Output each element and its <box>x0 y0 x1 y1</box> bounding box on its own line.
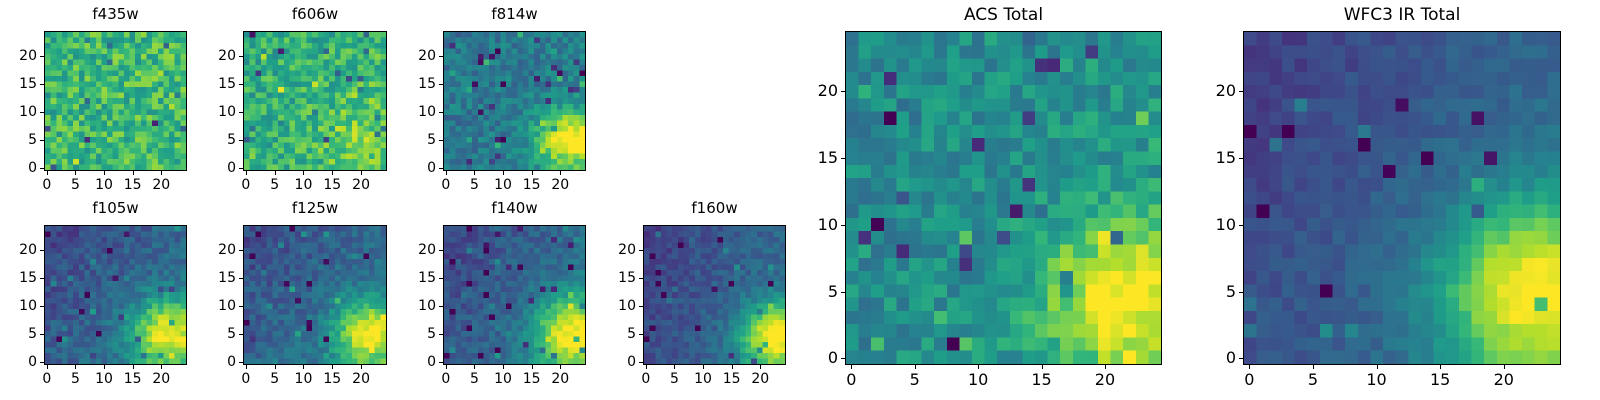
xtick-mark <box>474 171 475 175</box>
xtick-mark <box>303 365 304 369</box>
ytick-label: 15 <box>185 77 236 91</box>
heatmap-image-wfc3-ir-total <box>1244 32 1560 364</box>
ytick-label: 5 <box>787 284 838 300</box>
ytick-label: 10 <box>385 105 436 119</box>
ytick-mark <box>40 56 44 57</box>
ytick-mark <box>439 112 443 113</box>
ytick-label: 5 <box>1185 284 1236 300</box>
xtick-mark <box>1440 365 1441 369</box>
xtick-label: 15 <box>124 372 142 386</box>
xtick-label: 10 <box>494 178 512 192</box>
heatmap-axes-f606w[interactable] <box>243 31 387 171</box>
ytick-label: 10 <box>0 299 37 313</box>
xtick-label: 10 <box>295 372 313 386</box>
ytick-mark <box>841 225 845 226</box>
ytick-mark <box>841 91 845 92</box>
ytick-mark <box>1239 292 1243 293</box>
xtick-mark <box>851 365 852 369</box>
xtick-mark <box>246 171 247 175</box>
ytick-mark <box>639 334 643 335</box>
ytick-mark <box>1239 91 1243 92</box>
ytick-mark <box>239 306 243 307</box>
xtick-mark <box>446 365 447 369</box>
heatmap-image-f105w <box>45 226 186 364</box>
ytick-mark <box>40 250 44 251</box>
panel-wfc3-ir-total: WFC3 IR Total0510152005101520 <box>1183 5 1600 399</box>
heatmap-axes-wfc3-ir-total[interactable] <box>1243 31 1561 365</box>
xtick-label: 5 <box>270 178 279 192</box>
ytick-label: 20 <box>185 243 236 257</box>
ytick-label: 10 <box>385 299 436 313</box>
ytick-mark <box>841 358 845 359</box>
xtick-mark <box>133 365 134 369</box>
xtick-label: 5 <box>470 372 479 386</box>
xtick-label: 10 <box>694 372 712 386</box>
ytick-mark <box>1239 158 1243 159</box>
ytick-label: 5 <box>185 327 236 341</box>
ytick-mark <box>40 334 44 335</box>
ytick-mark <box>239 278 243 279</box>
xtick-mark <box>474 365 475 369</box>
ytick-mark <box>239 112 243 113</box>
xtick-mark <box>1042 365 1043 369</box>
xtick-mark <box>978 365 979 369</box>
ytick-label: 15 <box>385 271 436 285</box>
xtick-label: 0 <box>1244 372 1254 388</box>
xtick-mark <box>275 365 276 369</box>
ytick-mark <box>639 278 643 279</box>
heatmap-image-f435w <box>45 32 186 170</box>
panel-title-f814w: f814w <box>383 7 646 22</box>
xtick-mark <box>703 365 704 369</box>
heatmap-axes-f435w[interactable] <box>44 31 187 171</box>
xtick-mark <box>1377 365 1378 369</box>
xtick-mark <box>1249 365 1250 369</box>
xtick-label: 0 <box>241 372 250 386</box>
figure-canvas: f435w0510152005101520f606w05101520051015… <box>0 0 1600 400</box>
xtick-label: 15 <box>323 372 341 386</box>
ytick-mark <box>40 84 44 85</box>
ytick-label: 0 <box>385 355 436 369</box>
xtick-label: 10 <box>295 178 313 192</box>
xtick-label: 0 <box>241 178 250 192</box>
ytick-label: 10 <box>185 105 236 119</box>
xtick-mark <box>915 365 916 369</box>
heatmap-axes-f140w[interactable] <box>443 225 586 365</box>
xtick-mark <box>532 365 533 369</box>
ytick-label: 15 <box>1185 150 1236 166</box>
ytick-mark <box>439 250 443 251</box>
ytick-label: 15 <box>385 77 436 91</box>
ytick-mark <box>239 168 243 169</box>
ytick-label: 15 <box>0 271 37 285</box>
ytick-label: 15 <box>787 150 838 166</box>
xtick-mark <box>303 171 304 175</box>
ytick-mark <box>639 306 643 307</box>
ytick-mark <box>40 278 44 279</box>
ytick-label: 20 <box>385 243 436 257</box>
ytick-mark <box>40 168 44 169</box>
ytick-mark <box>239 250 243 251</box>
xtick-mark <box>503 171 504 175</box>
xtick-label: 20 <box>1494 372 1514 388</box>
ytick-label: 20 <box>0 243 37 257</box>
xtick-label: 15 <box>323 178 341 192</box>
heatmap-axes-f105w[interactable] <box>44 225 187 365</box>
xtick-mark <box>361 365 362 369</box>
heatmap-axes-f814w[interactable] <box>443 31 586 171</box>
ytick-label: 10 <box>585 299 636 313</box>
xtick-mark <box>246 365 247 369</box>
heatmap-axes-acs-total[interactable] <box>845 31 1162 365</box>
ytick-label: 0 <box>1185 350 1236 366</box>
xtick-label: 10 <box>494 372 512 386</box>
xtick-mark <box>47 365 48 369</box>
xtick-label: 15 <box>1430 372 1450 388</box>
xtick-label: 5 <box>270 372 279 386</box>
ytick-mark <box>40 306 44 307</box>
xtick-label: 15 <box>723 372 741 386</box>
xtick-mark <box>503 365 504 369</box>
xtick-label: 5 <box>670 372 679 386</box>
ytick-label: 20 <box>585 243 636 257</box>
ytick-label: 5 <box>585 327 636 341</box>
ytick-mark <box>639 250 643 251</box>
ytick-label: 10 <box>0 105 37 119</box>
panel-title-acs-total: ACS Total <box>785 7 1222 24</box>
heatmap-image-acs-total <box>846 32 1161 364</box>
panel-title-wfc3-ir-total: WFC3 IR Total <box>1183 7 1600 24</box>
xtick-mark <box>760 365 761 369</box>
xtick-mark <box>275 171 276 175</box>
xtick-mark <box>1504 365 1505 369</box>
xtick-label: 20 <box>152 372 170 386</box>
ytick-label: 20 <box>0 49 37 63</box>
xtick-mark <box>361 171 362 175</box>
xtick-mark <box>446 171 447 175</box>
ytick-label: 5 <box>185 133 236 147</box>
xtick-label: 0 <box>641 372 650 386</box>
xtick-mark <box>1313 365 1314 369</box>
heatmap-image-f606w <box>244 32 386 170</box>
xtick-label: 20 <box>551 372 569 386</box>
heatmap-image-f160w <box>644 226 785 364</box>
xtick-label: 0 <box>42 178 51 192</box>
xtick-label: 5 <box>470 178 479 192</box>
ytick-mark <box>841 158 845 159</box>
ytick-mark <box>439 84 443 85</box>
xtick-label: 5 <box>71 372 80 386</box>
xtick-mark <box>161 365 162 369</box>
xtick-label: 20 <box>352 372 370 386</box>
ytick-label: 10 <box>787 217 838 233</box>
xtick-label: 0 <box>441 178 450 192</box>
ytick-label: 15 <box>585 271 636 285</box>
ytick-mark <box>439 168 443 169</box>
xtick-mark <box>332 365 333 369</box>
xtick-label: 5 <box>71 178 80 192</box>
xtick-mark <box>532 171 533 175</box>
xtick-label: 10 <box>968 372 988 388</box>
ytick-label: 0 <box>0 355 37 369</box>
xtick-label: 20 <box>1095 372 1115 388</box>
xtick-label: 20 <box>551 178 569 192</box>
ytick-mark <box>40 112 44 113</box>
xtick-mark <box>75 171 76 175</box>
xtick-label: 0 <box>846 372 856 388</box>
xtick-mark <box>560 365 561 369</box>
xtick-label: 20 <box>751 372 769 386</box>
xtick-label: 20 <box>352 178 370 192</box>
xtick-label: 15 <box>124 178 142 192</box>
xtick-mark <box>732 365 733 369</box>
ytick-mark <box>439 56 443 57</box>
ytick-label: 5 <box>0 327 37 341</box>
panel-acs-total: ACS Total0510152005101520 <box>785 5 1222 399</box>
panel-f814w: f814w0510152005101520 <box>383 5 646 205</box>
heatmap-image-f140w <box>444 226 585 364</box>
ytick-mark <box>239 84 243 85</box>
xtick-label: 10 <box>1366 372 1386 388</box>
xtick-label: 15 <box>523 178 541 192</box>
ytick-label: 20 <box>385 49 436 63</box>
ytick-label: 20 <box>787 83 838 99</box>
xtick-mark <box>133 171 134 175</box>
heatmap-image-f125w <box>244 226 386 364</box>
ytick-label: 5 <box>385 327 436 341</box>
xtick-mark <box>75 365 76 369</box>
xtick-mark <box>161 171 162 175</box>
ytick-mark <box>239 362 243 363</box>
ytick-label: 0 <box>185 161 236 175</box>
ytick-mark <box>1239 225 1243 226</box>
ytick-mark <box>639 362 643 363</box>
xtick-label: 20 <box>152 178 170 192</box>
heatmap-image-f814w <box>444 32 585 170</box>
xtick-mark <box>560 171 561 175</box>
ytick-label: 10 <box>1185 217 1236 233</box>
ytick-mark <box>1239 358 1243 359</box>
ytick-mark <box>439 278 443 279</box>
ytick-mark <box>239 56 243 57</box>
ytick-label: 5 <box>0 133 37 147</box>
xtick-label: 15 <box>1031 372 1051 388</box>
ytick-label: 0 <box>185 355 236 369</box>
xtick-mark <box>674 365 675 369</box>
xtick-mark <box>332 171 333 175</box>
ytick-label: 20 <box>1185 83 1236 99</box>
xtick-mark <box>1105 365 1106 369</box>
xtick-label: 15 <box>523 372 541 386</box>
xtick-mark <box>104 171 105 175</box>
xtick-label: 5 <box>1308 372 1318 388</box>
xtick-label: 10 <box>95 372 113 386</box>
ytick-mark <box>239 140 243 141</box>
ytick-label: 5 <box>385 133 436 147</box>
xtick-mark <box>47 171 48 175</box>
ytick-mark <box>40 362 44 363</box>
heatmap-axes-f125w[interactable] <box>243 225 387 365</box>
ytick-mark <box>239 334 243 335</box>
ytick-mark <box>439 334 443 335</box>
ytick-label: 20 <box>185 49 236 63</box>
ytick-label: 0 <box>0 161 37 175</box>
xtick-label: 10 <box>95 178 113 192</box>
xtick-mark <box>104 365 105 369</box>
ytick-label: 15 <box>0 77 37 91</box>
ytick-label: 10 <box>185 299 236 313</box>
ytick-mark <box>841 292 845 293</box>
ytick-label: 0 <box>787 350 838 366</box>
xtick-label: 5 <box>910 372 920 388</box>
ytick-mark <box>439 140 443 141</box>
ytick-label: 0 <box>385 161 436 175</box>
xtick-label: 0 <box>42 372 51 386</box>
heatmap-axes-f160w[interactable] <box>643 225 786 365</box>
ytick-label: 15 <box>185 271 236 285</box>
xtick-mark <box>646 365 647 369</box>
ytick-mark <box>439 306 443 307</box>
ytick-mark <box>439 362 443 363</box>
ytick-label: 0 <box>585 355 636 369</box>
ytick-mark <box>40 140 44 141</box>
xtick-label: 0 <box>441 372 450 386</box>
